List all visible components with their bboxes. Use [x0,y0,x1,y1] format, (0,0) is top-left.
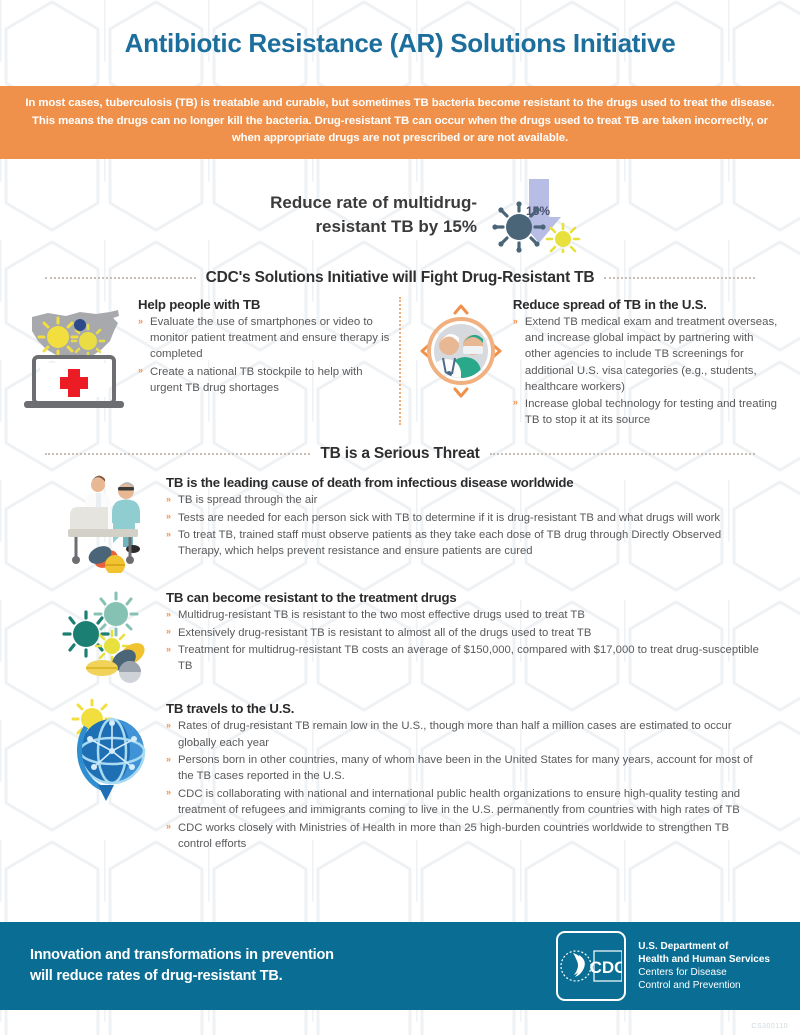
solution-bullets: Extend TB medical exam and treatment ove… [513,314,782,428]
footer-slogan-line1: Innovation and transformations in preven… [30,947,334,963]
solutions-section-title: CDC's Solutions Initiative will Fight Dr… [206,269,595,287]
down-arrow-bacteria-icon: 15% [491,177,583,253]
bullet-item: TB is spread through the air [166,492,762,508]
solution-body: Help people with TB Evaluate the use of … [138,297,391,429]
icon-container [60,697,156,812]
footer-slogan-line2: will reduce rates of drug-resistant TB. [30,968,282,984]
agency-name: U.S. Department of Health and Human Serv… [638,940,770,993]
threat-body: TB is the leading cause of death from in… [166,471,762,561]
solution-column-help-people: Help people with TB Evaluate the use of … [18,297,399,429]
globe-bacteria-icon [60,699,156,807]
icon-container [417,297,505,429]
divider-left [45,453,310,455]
goal-text: Reduce rate of multidrug-resistant TB by… [217,191,477,239]
threat-bullets: Multidrug-resistant TB is resistant to t… [166,607,762,675]
bullet-item: Tests are needed for each person sick wi… [166,510,762,526]
bullet-item: CDC is collaborating with national and i… [166,786,762,819]
document-code: CS300110 [751,1023,788,1030]
bullet-item: Evaluate the use of smartphones or video… [138,314,391,363]
bullet-item: Increase global technology for testing a… [513,396,782,428]
solution-title: Reduce spread of TB in the U.S. [513,297,782,312]
solution-column-reduce-spread: Reduce spread of TB in the U.S. Extend T… [399,297,782,429]
icon-container [60,586,156,689]
bullet-item: To treat TB, trained staff must observe … [166,527,762,560]
solution-body: Reduce spread of TB in the U.S. Extend T… [513,297,782,429]
icon-container [60,471,156,578]
threat-body: TB travels to the U.S. Rates of drug-res… [166,697,762,853]
bullet-item: Multidrug-resistant TB is resistant to t… [166,607,762,623]
threat-block-leading-cause: TB is the leading cause of death from in… [0,469,800,584]
threat-bullets: Rates of drug-resistant TB remain low in… [166,718,762,852]
bullet-item: Treatment for multidrug-resistant TB cos… [166,642,762,675]
threat-bullets: TB is spread through the air Tests are n… [166,492,762,560]
page-title: Antibiotic Resistance (AR) Solutions Ini… [125,28,676,59]
threat-section-title: TB is a Serious Threat [320,445,479,463]
divider-left [45,277,196,279]
threat-block-resistance: TB can become resistant to the treatment… [0,584,800,695]
us-map-laptop-icon [18,301,130,413]
intro-banner: In most cases, tuberculosis (TB) is trea… [0,86,800,159]
threat-body: TB can become resistant to the treatment… [166,586,762,676]
cdc-logo-text: CDC [590,958,622,977]
solutions-section-header: CDC's Solutions Initiative will Fight Dr… [45,269,755,287]
divider-right [490,453,755,455]
healthcare-workers-icon [417,301,505,401]
agency-line1: U.S. Department of [638,940,770,953]
footer-slogan: Innovation and transformations in preven… [30,945,556,987]
threat-title: TB travels to the U.S. [166,701,762,716]
bullet-item: Create a national TB stockpile to help w… [138,364,391,396]
bullet-item: Extensively drug-resistant TB is resista… [166,625,762,641]
icon-container [18,297,130,429]
bullet-item: Persons born in other countries, many of… [166,752,762,785]
hhs-seal-icon: CDC [560,943,622,989]
solution-title: Help people with TB [138,297,391,312]
solution-bullets: Evaluate the use of smartphones or video… [138,314,391,396]
agency-line2: Health and Human Services [638,953,770,966]
bullet-item: Extend TB medical exam and treatment ove… [513,314,782,395]
hhs-cdc-logo: CDC [556,931,626,1001]
solutions-columns: Help people with TB Evaluate the use of … [0,293,800,435]
agency-line3: Centers for Disease [638,966,770,979]
agency-line4: Control and Prevention [638,979,770,992]
infographic-page: Antibiotic Resistance (AR) Solutions Ini… [0,0,800,1035]
bullet-item: CDC works closely with Ministries of Hea… [166,820,762,853]
footer-banner: Innovation and transformations in preven… [0,922,800,1010]
divider-right [604,277,755,279]
cdc-logo-group: CDC U.S. Department of Health and Human … [556,931,770,1001]
bullet-item: Rates of drug-resistant TB remain low in… [166,718,762,751]
goal-section: Reduce rate of multidrug-resistant TB by… [0,159,800,259]
threat-section-header: TB is a Serious Threat [45,445,755,463]
threat-title: TB can become resistant to the treatment… [166,590,762,605]
column-divider [399,297,401,425]
title-section: Antibiotic Resistance (AR) Solutions Ini… [0,0,800,86]
bacteria-pills-icon [60,588,156,684]
doctor-patient-exam-icon [60,473,156,573]
threat-title: TB is the leading cause of death from in… [166,475,762,490]
threat-block-travels: TB travels to the U.S. Rates of drug-res… [0,695,800,859]
